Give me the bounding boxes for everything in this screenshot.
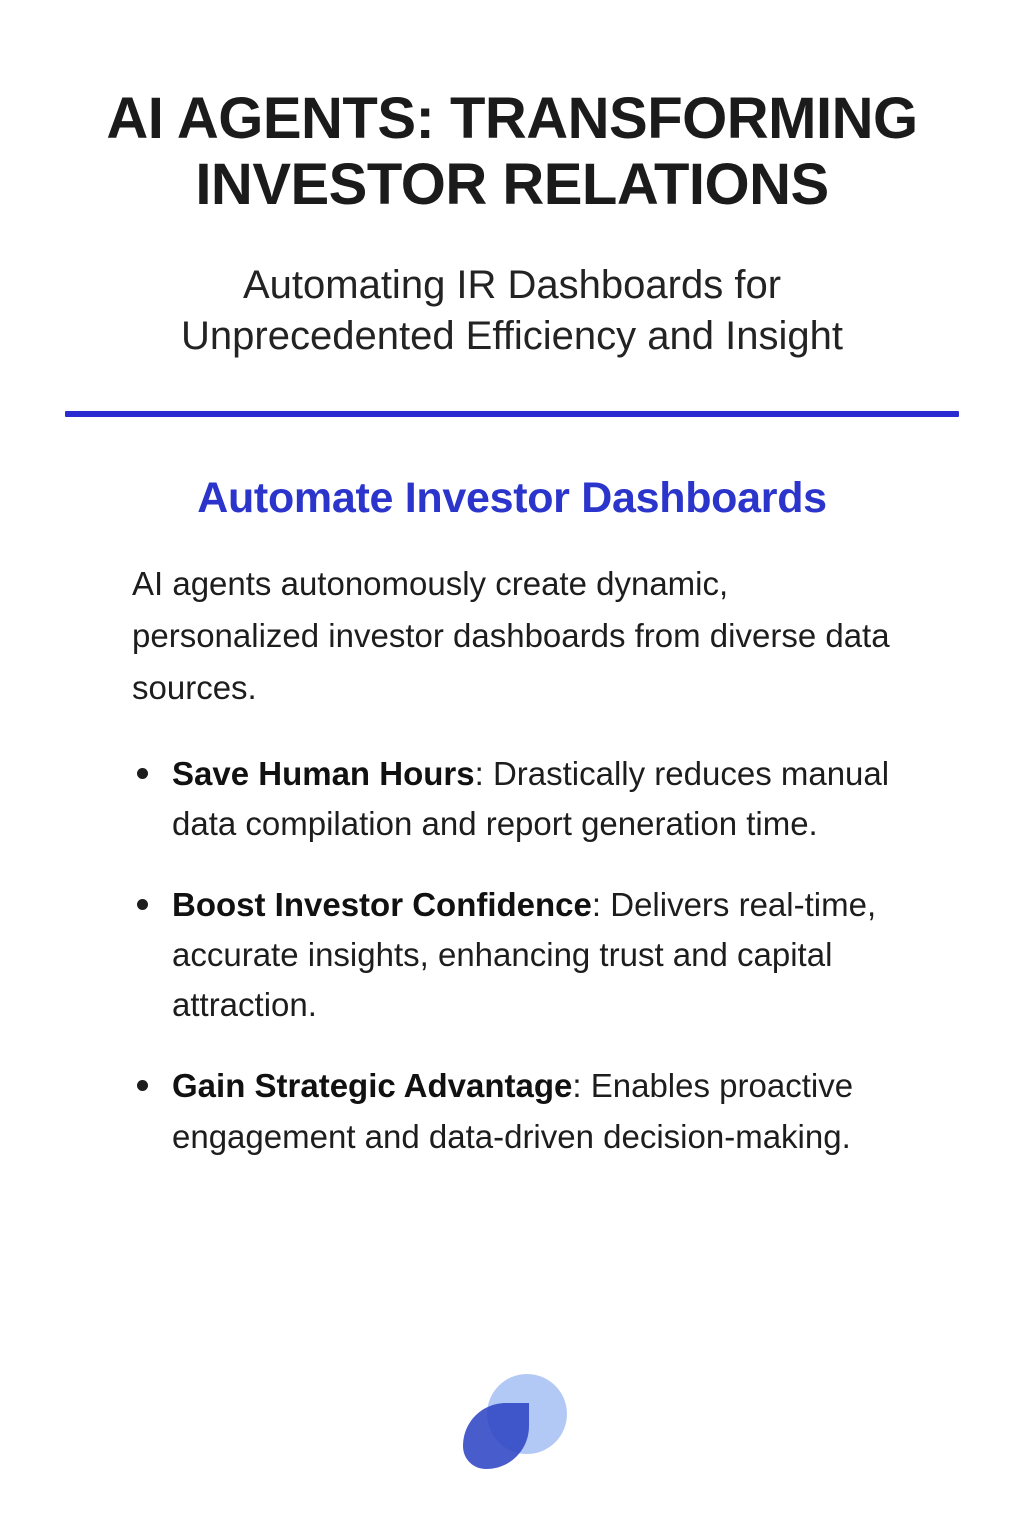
section-heading: Automate Investor Dashboards [70,417,954,525]
list-item-term: Boost Investor Confidence [172,886,592,923]
brand-logo-icon [453,1370,571,1488]
list-item-term: Gain Strategic Advantage [172,1067,572,1104]
content-body: Automate Investor Dashboards AI agents a… [0,417,1024,1162]
list-item-separator: : [592,886,610,923]
bullet-dot-icon [137,1080,148,1091]
bullet-dot-icon [137,899,148,910]
list-item-separator: : [572,1067,590,1104]
list-item: Save Human Hours: Drastically reduces ma… [132,749,914,849]
divider-container [0,363,1024,417]
slide-root: AI AGENTS: TRANSFORMING INVESTOR RELATIO… [0,0,1024,1536]
benefits-list: Save Human Hours: Drastically reduces ma… [70,715,954,1162]
list-item-term: Save Human Hours [172,755,475,792]
list-item: Boost Investor Confidence: Delivers real… [132,880,914,1030]
bullet-dot-icon [137,768,148,779]
list-item-separator: : [475,755,493,792]
header: AI AGENTS: TRANSFORMING INVESTOR RELATIO… [0,0,1024,363]
section-intro-paragraph: AI agents autonomously create dynamic, p… [70,524,954,714]
list-item: Gain Strategic Advantage: Enables proact… [132,1061,914,1161]
page-subtitle: Automating IR Dashboards for Unprecedent… [62,218,962,362]
page-title: AI AGENTS: TRANSFORMING INVESTOR RELATIO… [62,0,962,218]
logo-container [0,1370,1024,1488]
